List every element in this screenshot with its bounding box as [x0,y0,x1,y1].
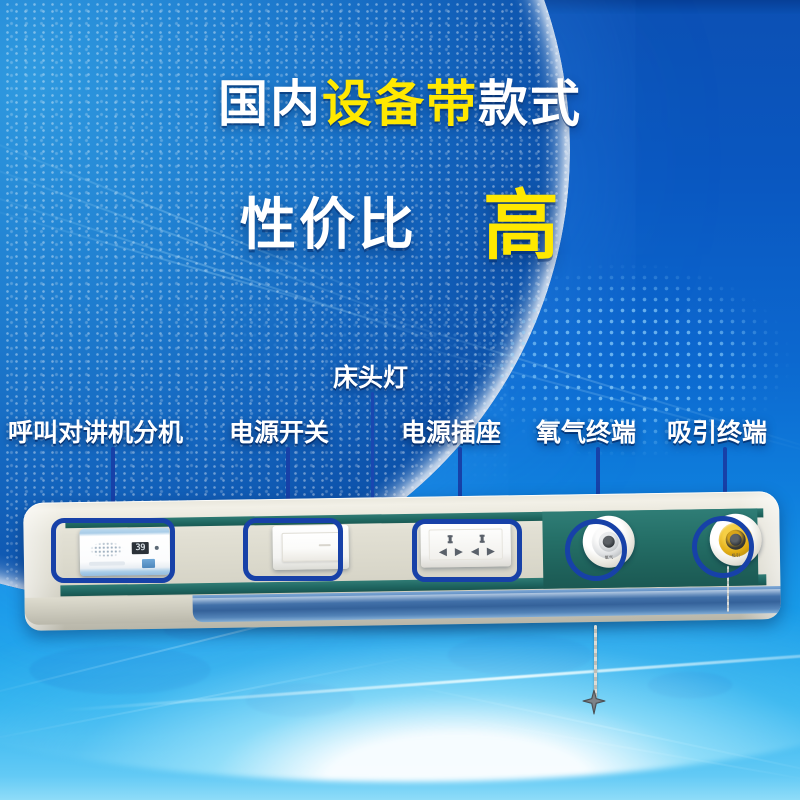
suction-terminal-outlet[interactable]: 吸引 [709,513,762,566]
background-top-band [0,0,800,14]
socket-pin-right [455,548,463,556]
panel-lower-cream-rail [25,595,201,625]
suction-terminal-mark: 吸引 [732,553,740,559]
switch-rocker[interactable] [282,532,340,562]
pull-cord-weight[interactable] [580,688,608,716]
panel-body: 39 [23,491,781,631]
cross-weight-icon [580,688,608,716]
switch-indicator-mark [319,544,331,546]
banner-stage: 国内设备带款式 性价比高 呼叫对讲机分机 电源开关 床头灯 电源插座 氧气终端 … [0,0,800,800]
socket-pin-left [439,548,447,556]
nurse-call-intercom-unit[interactable]: 39 [79,528,170,576]
oxygen-terminal-outlet[interactable]: 氧气 [582,515,635,568]
intercom-call-button[interactable] [142,559,155,568]
socket-pin-left [471,548,479,556]
socket-pin-right [487,548,495,556]
socket-pin-vertical [481,535,484,543]
socket-outlet-left[interactable] [436,535,466,557]
socket-outlet-right[interactable] [468,534,498,556]
intercom-led-indicator [155,546,159,550]
power-switch-unit[interactable] [272,525,349,570]
intercom-slot [89,561,125,566]
bed-head-unit-panel: 39 [23,491,781,631]
intercom-display: 39 [132,542,149,554]
speaker-grille-icon [90,541,124,558]
socket-face [429,528,503,560]
suction-terminal-cord [727,566,729,612]
socket-pin-vertical [449,535,452,543]
oxygen-terminal-mark: 氧气 [605,555,613,561]
power-socket-unit[interactable] [420,522,511,567]
